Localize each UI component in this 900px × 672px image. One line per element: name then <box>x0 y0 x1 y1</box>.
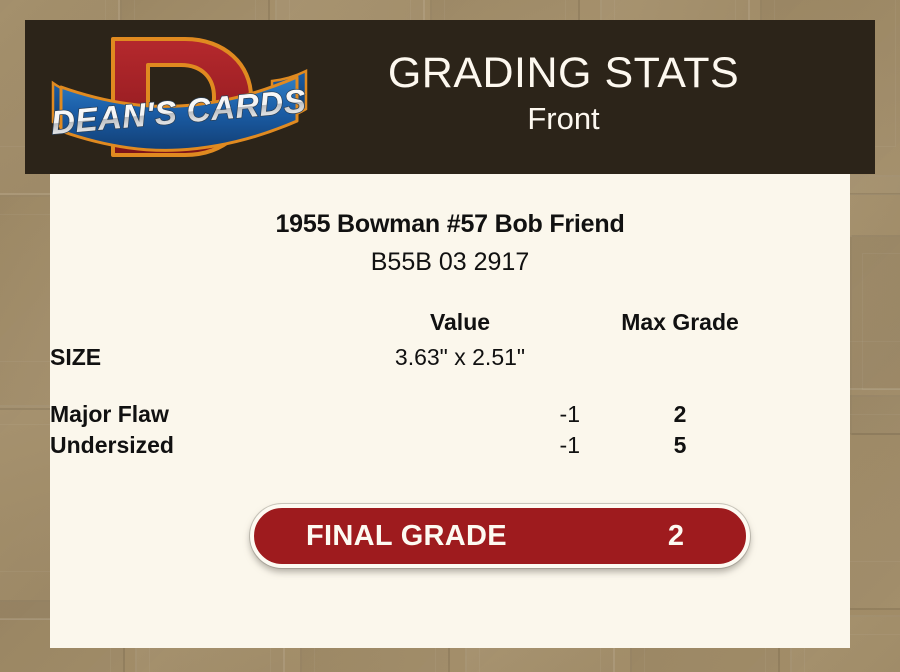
column-header-max-grade: Max Grade <box>580 309 780 342</box>
column-header-spacer <box>780 309 850 342</box>
row-spacer <box>780 342 850 373</box>
row-spacer <box>780 399 850 430</box>
column-header-label <box>50 309 340 342</box>
row-label-major-flaw: Major Flaw <box>50 399 340 430</box>
row-value-size: 3.63" x 2.51" <box>340 342 580 373</box>
table-row: Undersized -1 5 <box>50 430 850 461</box>
final-grade-label: FINAL GRADE <box>306 520 507 553</box>
final-grade-bar[interactable]: FINAL GRADE 2 <box>250 504 750 568</box>
table-row: Major Flaw -1 2 <box>50 399 850 430</box>
deans-cards-logo[interactable]: DEAN'S CARDS <box>47 27 312 167</box>
row-spacer <box>780 430 850 461</box>
grading-stats-table: Value Max Grade SIZE 3.63" x 2.51" Major… <box>50 309 850 461</box>
row-max-undersized: 5 <box>580 430 780 461</box>
card-name: 1955 Bowman #57 Bob Friend <box>50 210 850 239</box>
card-serial-number: B55B 03 2917 <box>50 248 850 277</box>
row-max-major-flaw: 2 <box>580 399 780 430</box>
row-value-major-flaw: -1 <box>340 399 580 430</box>
table-row-spacer <box>50 373 850 399</box>
row-label-size: SIZE <box>50 342 340 373</box>
row-max-size <box>580 342 780 373</box>
final-grade-value: 2 <box>606 520 746 553</box>
page-title: GRADING STATS <box>312 51 815 96</box>
header-bar: DEAN'S CARDS GRADING STATS Front <box>25 20 875 174</box>
stats-panel: 1955 Bowman #57 Bob Friend B55B 03 2917 … <box>50 174 850 648</box>
row-value-undersized: -1 <box>340 430 580 461</box>
table-header-row: Value Max Grade <box>50 309 850 342</box>
page-subtitle: Front <box>312 100 815 139</box>
header-title-block: GRADING STATS Front <box>312 51 875 143</box>
final-grade-container: FINAL GRADE 2 <box>250 504 750 568</box>
row-label-undersized: Undersized <box>50 430 340 461</box>
table-row: SIZE 3.63" x 2.51" <box>50 342 850 373</box>
column-header-value: Value <box>340 309 580 342</box>
